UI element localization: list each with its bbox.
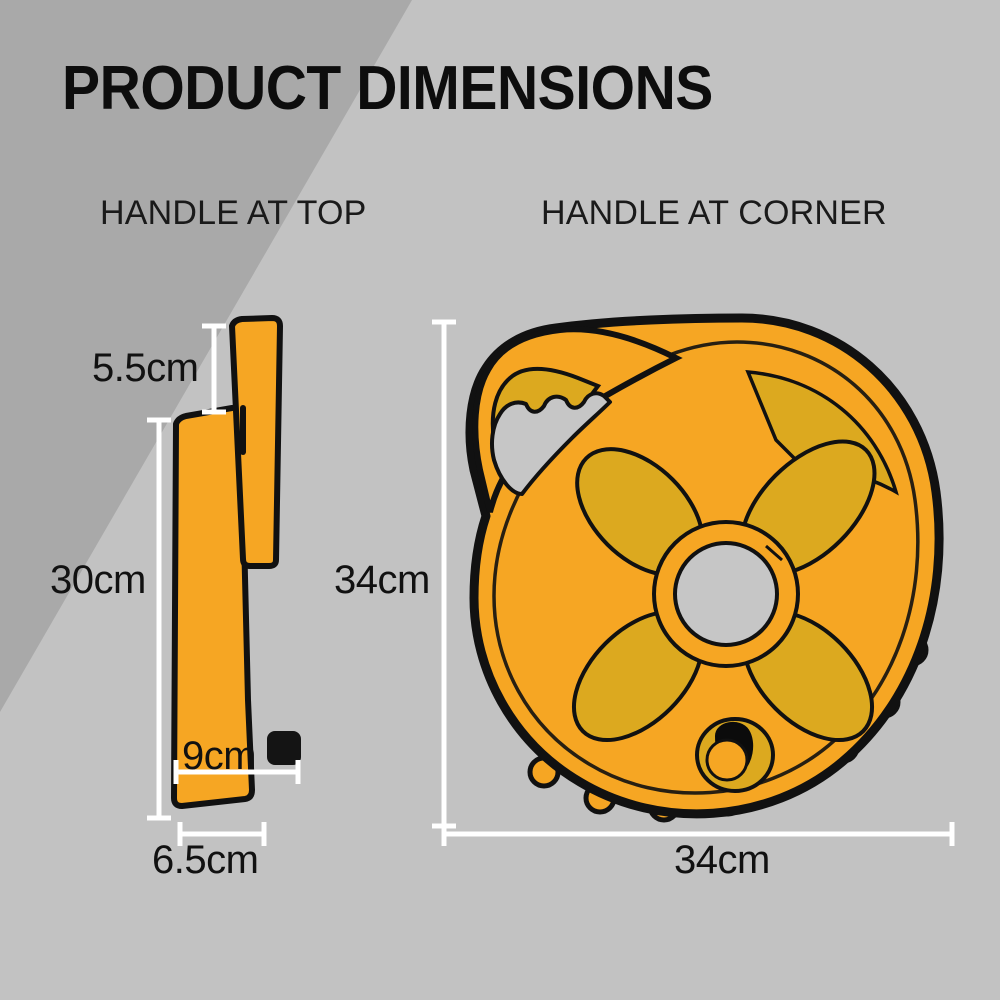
side-view-product <box>174 318 300 806</box>
product-dimensions-infographic: PRODUCT DIMENSIONS HANDLE AT TOP HANDLE … <box>0 0 1000 1000</box>
side-handle <box>232 318 280 566</box>
dimension-label-depth-with-tab: 9cm <box>182 736 256 776</box>
dimension-label-reel-height: 34cm <box>334 560 430 600</box>
page-title: PRODUCT DIMENSIONS <box>62 58 713 120</box>
dimension-label-body-height: 30cm <box>50 560 146 600</box>
hub-centre-hole <box>675 543 777 645</box>
dimension-label-handle-height: 5.5cm <box>92 348 198 388</box>
outlet-nozzle <box>707 740 747 780</box>
product-artwork <box>0 0 1000 1000</box>
dimension-label-reel-width: 34cm <box>674 840 770 880</box>
connector-tab <box>268 732 300 764</box>
dimension-label-base-width: 6.5cm <box>152 840 258 880</box>
section-heading-handle-at-top: HANDLE AT TOP <box>100 196 367 230</box>
face-view-product <box>470 318 939 820</box>
section-heading-handle-at-corner: HANDLE AT CORNER <box>541 196 887 230</box>
